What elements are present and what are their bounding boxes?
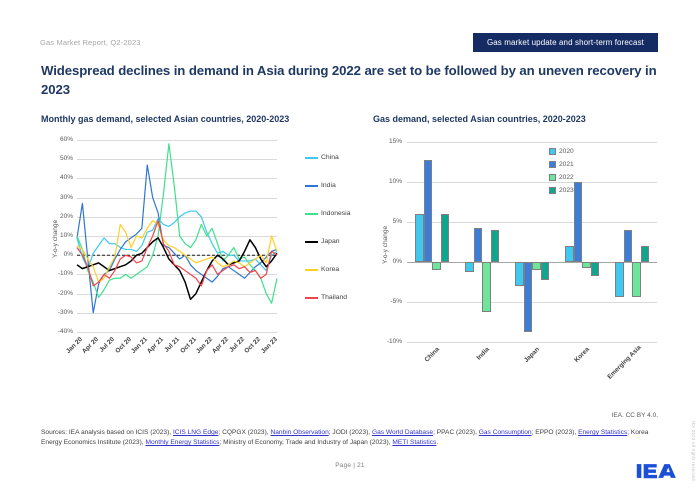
legend-label: 2022 — [559, 174, 574, 181]
legend-label: 2023 — [559, 187, 574, 194]
source-link[interactable]: ICIS LNG Edge — [173, 429, 218, 436]
y-axis-tick: -10% — [373, 338, 402, 345]
x-axis-category: China — [406, 346, 441, 381]
bar — [482, 262, 491, 312]
legend-label: Indonesia — [321, 210, 350, 217]
x-axis-category: Japan — [506, 346, 541, 381]
gridline — [407, 342, 657, 343]
legend-item-indonesia[interactable]: Indonesia — [305, 210, 350, 217]
legend-item-korea[interactable]: Korea — [305, 266, 339, 273]
bar — [415, 214, 424, 262]
legend-label: India — [321, 182, 336, 189]
line-series-india — [77, 165, 277, 313]
line-series-korea — [77, 221, 277, 282]
legend-item-thailand[interactable]: Thailand — [305, 294, 347, 301]
bar — [441, 214, 450, 262]
source-link[interactable]: Gas World Database — [372, 429, 433, 436]
bar — [532, 262, 541, 270]
legend-swatch-icon — [305, 241, 318, 243]
legend-swatch-icon — [305, 157, 318, 159]
bar — [474, 228, 483, 262]
legend-swatch-icon — [305, 297, 318, 299]
monthly-gas-demand-chart: 60%50%40%30%20%10%0%-10%-20%-30%-40%Y-o-… — [41, 132, 361, 377]
line-series-indonesia — [77, 144, 277, 303]
legend-label: China — [321, 154, 339, 161]
bar — [465, 262, 474, 272]
bar — [524, 262, 533, 332]
y-axis-tick: 15% — [373, 138, 402, 145]
x-axis-category: Korea — [556, 346, 591, 381]
legend-item-2020[interactable]: 2020 — [549, 148, 574, 155]
x-axis-category: Emerging Asia — [606, 346, 641, 381]
bar — [491, 230, 500, 262]
source-link[interactable]: Energy Statistics — [578, 429, 627, 436]
source-link[interactable]: Gas Consumption — [479, 429, 532, 436]
gridline — [407, 142, 657, 143]
y-axis-tick: -5% — [373, 298, 402, 305]
bar — [541, 262, 550, 280]
report-tag: Gas Market Report, Q2-2023 — [40, 38, 141, 47]
legend-item-2023[interactable]: 2023 — [549, 187, 574, 194]
legend-swatch-icon — [549, 187, 556, 194]
y-axis-tick: 10% — [373, 178, 402, 185]
legend-swatch-icon — [549, 161, 556, 168]
legend-swatch-icon — [549, 148, 556, 155]
page-number: Page | 21 — [0, 462, 700, 469]
gridline — [407, 302, 657, 303]
right-chart-title: Gas demand, selected Asian countries, 20… — [373, 114, 586, 124]
source-link[interactable]: METI Statistics — [392, 439, 436, 446]
page-title: Widespread declines in demand in Asia du… — [41, 62, 661, 99]
iea-logo — [636, 461, 682, 481]
x-axis-category: India — [456, 346, 491, 381]
bar — [565, 246, 574, 262]
cc-license-note: IEA. CC BY 4.0. — [612, 412, 658, 419]
annual-gas-demand-chart: 15%10%5%0%-5%-10%Y-o-y changeChinaIndiaJ… — [373, 132, 685, 377]
legend-item-2022[interactable]: 2022 — [549, 174, 574, 181]
source-link[interactable]: Nanbin Observation — [270, 429, 328, 436]
legend-item-china[interactable]: China — [305, 154, 339, 161]
bar — [582, 262, 591, 268]
slide: Gas Market Report, Q2-2023 Gas market up… — [0, 0, 700, 495]
bar — [574, 182, 583, 262]
bar — [515, 262, 524, 286]
header-badge: Gas market update and short-term forecas… — [473, 33, 658, 52]
legend-item-india[interactable]: India — [305, 182, 336, 189]
bar — [641, 246, 650, 262]
legend-swatch-icon — [549, 174, 556, 181]
legend-label: Japan — [321, 238, 340, 245]
line-series-china — [77, 211, 277, 271]
legend-swatch-icon — [305, 269, 318, 271]
bar — [632, 262, 641, 297]
legend-label: Thailand — [321, 294, 347, 301]
legend-swatch-icon — [305, 185, 318, 187]
legend-item-japan[interactable]: Japan — [305, 238, 340, 245]
bar — [432, 262, 441, 270]
legend-swatch-icon — [305, 213, 318, 215]
bar — [424, 160, 433, 262]
source-link[interactable]: Monthly Energy Statistics — [145, 439, 219, 446]
side-rights-code: IEA 2023 All rights reserved — [691, 421, 696, 481]
y-axis-tick: 5% — [373, 218, 402, 225]
legend-label: Korea — [321, 266, 339, 273]
y-axis-title: Y-o-y change — [382, 226, 389, 264]
left-chart-title: Monthly gas demand, selected Asian count… — [41, 114, 289, 124]
bar — [615, 262, 624, 297]
sources-note: Sources: IEA analysis based on ICIS (202… — [41, 428, 669, 448]
legend-label: 2021 — [559, 161, 574, 168]
legend-item-2021[interactable]: 2021 — [549, 161, 574, 168]
bar — [591, 262, 600, 276]
legend-label: 2020 — [559, 148, 574, 155]
bar — [624, 230, 633, 262]
gridline — [407, 182, 657, 183]
